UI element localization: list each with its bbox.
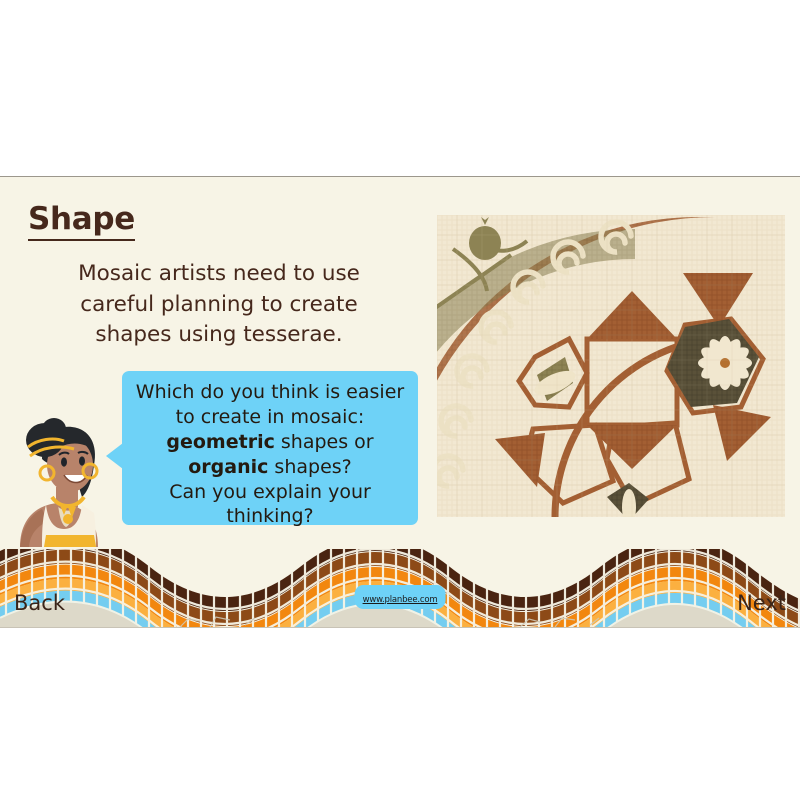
bubble-line-3-rest: shapes or bbox=[275, 431, 374, 453]
roman-woman-illustration bbox=[2, 415, 114, 547]
slide-viewer: Shape Mosaic artists need to use careful… bbox=[0, 0, 800, 800]
bubble-line-1: Which do you think is easier bbox=[134, 380, 406, 405]
mosaic-photo-svg bbox=[437, 215, 785, 517]
next-button[interactable]: Next bbox=[737, 591, 786, 615]
bubble-line-2: to create in mosaic: bbox=[134, 405, 406, 430]
bubble-line-6: thinking? bbox=[134, 504, 406, 529]
character-svg bbox=[2, 415, 114, 547]
bubble-bold-geometric: geometric bbox=[166, 431, 274, 453]
body-paragraph: Mosaic artists need to use careful plann… bbox=[44, 259, 394, 351]
page-title: Shape bbox=[28, 203, 135, 241]
bubble-bold-organic: organic bbox=[188, 456, 268, 478]
bubble-line-3: geometric shapes or bbox=[134, 430, 406, 455]
planbee-watermark-badge[interactable]: www.planbee.com bbox=[355, 585, 446, 609]
bubble-line-4-rest: shapes? bbox=[268, 456, 351, 478]
bubble-line-5: Can you explain your bbox=[134, 480, 406, 505]
presentation-slide: Shape Mosaic artists need to use careful… bbox=[0, 176, 800, 628]
roman-mosaic-photograph bbox=[437, 215, 785, 517]
watermark-url: www.planbee.com bbox=[363, 595, 438, 605]
back-button[interactable]: Back bbox=[14, 591, 65, 615]
question-speech-bubble: Which do you think is easier to create i… bbox=[122, 371, 418, 525]
bubble-line-4: organic shapes? bbox=[134, 455, 406, 480]
